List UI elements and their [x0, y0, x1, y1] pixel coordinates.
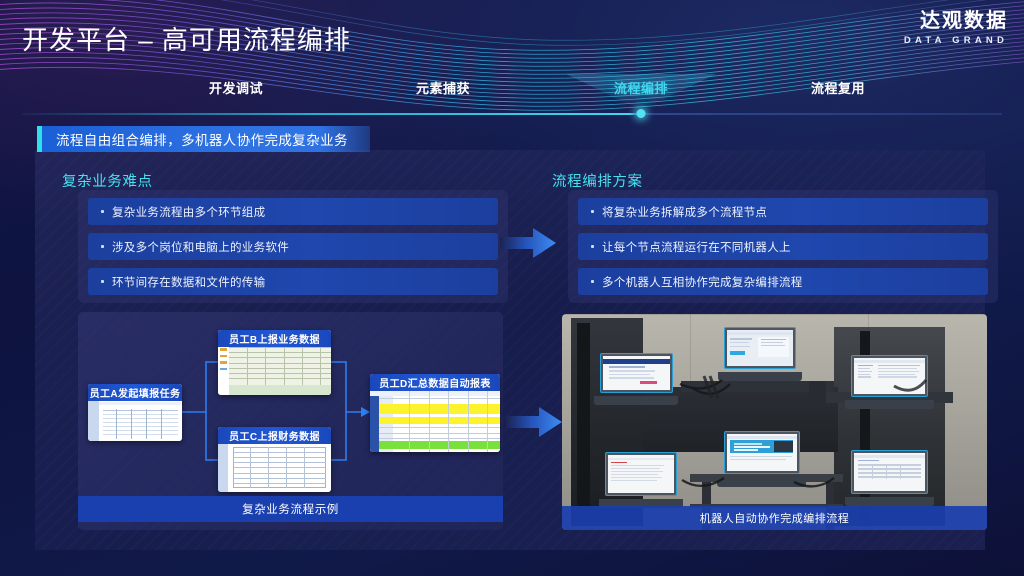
banner-body: 流程自由组合编排，多机器人协作完成复杂业务 — [42, 126, 370, 152]
photo-scene — [562, 314, 987, 530]
logo-en-text: DATA GRAND — [904, 35, 1008, 46]
photo-caption: 机器人自动协作完成编排流程 — [562, 506, 987, 530]
left-bullet-list: 复杂业务流程由多个环节组成 涉及多个岗位和电脑上的业务软件 环节间存在数据和文件… — [78, 190, 508, 303]
flow-node-a-text: 员工A发起填报任务 — [90, 385, 181, 400]
list-item-label: 让每个节点流程运行在不同机器人上 — [602, 239, 791, 255]
list-item: 环节间存在数据和文件的传输 — [88, 268, 498, 295]
nav-item-1[interactable]: 元素捕获 — [416, 78, 470, 97]
flow-diagram-panel: 员工A发起填报任务 — [78, 312, 503, 530]
logo-cn-text: 达观数据 — [904, 10, 1008, 33]
arrow-right-icon — [506, 405, 562, 439]
nav-item-3[interactable]: 流程复用 — [811, 78, 865, 97]
section-banner: 流程自由组合编排，多机器人协作完成复杂业务 — [37, 126, 370, 152]
flow-node-a-label: 员工A发起填报任务 — [88, 384, 182, 401]
diagram-caption: 复杂业务流程示例 — [78, 496, 503, 522]
arrow-right-icon — [500, 226, 556, 260]
flow-node-c: 员工C上报财务数据 — [218, 427, 331, 492]
right-column-heading: 流程编排方案 — [552, 170, 643, 191]
slide-root: 开发平台 – 高可用流程编排 达观数据 DATA GRAND 开发调试 元素捕获… — [0, 0, 1024, 576]
list-item-label: 环节间存在数据和文件的传输 — [112, 274, 265, 290]
list-item-label: 复杂业务流程由多个环节组成 — [112, 204, 265, 220]
flow-node-d-text: 员工D汇总数据自动报表 — [379, 375, 491, 390]
left-column-heading: 复杂业务难点 — [62, 170, 153, 191]
list-item-label: 多个机器人互相协作完成复杂编排流程 — [602, 274, 803, 290]
list-item: 将复杂业务拆解成多个流程节点 — [578, 198, 988, 225]
nav-item-0[interactable]: 开发调试 — [209, 78, 263, 97]
flow-node-c-label: 员工C上报财务数据 — [218, 427, 331, 444]
step-nav: 开发调试 元素捕获 流程编排 流程复用 — [0, 78, 1024, 118]
flow-node-b-text: 员工B上报业务数据 — [229, 331, 320, 346]
flow-node-d: 员工D汇总数据自动报表 — [370, 374, 500, 452]
list-item-label: 将复杂业务拆解成多个流程节点 — [602, 204, 767, 220]
page-title: 开发平台 – 高可用流程编排 — [22, 20, 351, 57]
list-item: 涉及多个岗位和电脑上的业务软件 — [88, 233, 498, 260]
flow-diagram-inner: 员工A发起填报任务 — [78, 312, 503, 530]
flow-node-a: 员工A发起填报任务 — [88, 384, 182, 441]
banner-text: 流程自由组合编排，多机器人协作完成复杂业务 — [56, 129, 348, 149]
cables — [562, 314, 987, 530]
nav-progress-line — [22, 113, 1002, 115]
robot-photo-panel: 机器人自动协作完成编排流程 — [562, 314, 987, 530]
list-item: 多个机器人互相协作完成复杂编排流程 — [578, 268, 988, 295]
flow-node-c-text: 员工C上报财务数据 — [229, 428, 320, 443]
right-bullet-list: 将复杂业务拆解成多个流程节点 让每个节点流程运行在不同机器人上 多个机器人互相协… — [568, 190, 998, 303]
flow-node-b-label: 员工B上报业务数据 — [218, 330, 331, 347]
list-item-label: 涉及多个岗位和电脑上的业务软件 — [112, 239, 289, 255]
flow-node-d-label: 员工D汇总数据自动报表 — [370, 374, 500, 391]
list-item: 复杂业务流程由多个环节组成 — [88, 198, 498, 225]
photo-caption-text: 机器人自动协作完成编排流程 — [700, 510, 850, 526]
nav-item-2[interactable]: 流程编排 — [614, 78, 668, 97]
flow-node-b: 员工B上报业务数据 — [218, 330, 331, 395]
brand-logo: 达观数据 DATA GRAND — [904, 10, 1008, 46]
diagram-caption-text: 复杂业务流程示例 — [242, 501, 339, 517]
nav-active-dot — [637, 109, 646, 118]
list-item: 让每个节点流程运行在不同机器人上 — [578, 233, 988, 260]
